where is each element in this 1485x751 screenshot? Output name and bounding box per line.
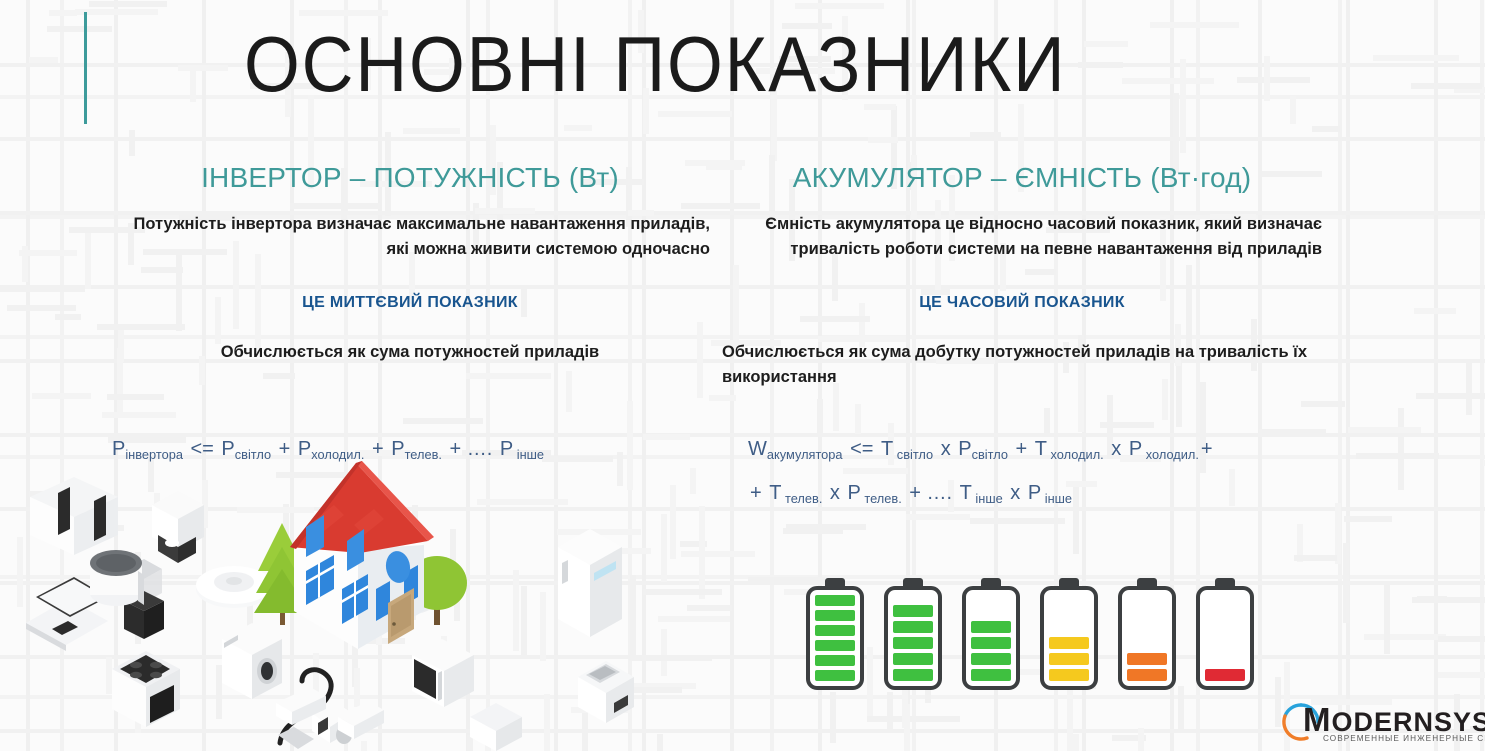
battery-bar <box>815 640 855 651</box>
battery-shell <box>962 586 1020 690</box>
battery-bar <box>1049 653 1089 665</box>
battery-bar <box>815 625 855 636</box>
formula-subscript: інше <box>972 491 1003 506</box>
formula-operator: <= <box>843 438 881 460</box>
battery-bar <box>971 653 1011 665</box>
appliance-washing-machine <box>222 623 282 699</box>
formula-term: P <box>1129 438 1142 460</box>
appliance-toaster <box>578 661 634 723</box>
formula-battery: Wакумулятора <= T світло х Pсвітло + T х… <box>748 430 1215 518</box>
logo-wordmark: MODERNSYS <box>1303 705 1485 737</box>
formula-term: P <box>1028 482 1041 504</box>
battery-bar <box>971 637 1011 649</box>
formula-operator: х <box>1003 482 1028 504</box>
isometric-house <box>254 461 467 649</box>
battery-critical <box>1196 578 1254 690</box>
column-kicker-battery: ЦЕ ЧАСОВИЙ ПОКАЗНИК <box>722 292 1322 314</box>
appliance-water-heater <box>90 550 144 606</box>
battery-shell <box>884 586 942 690</box>
column-heading-battery: АКУМУЛЯТОР – ЄМНІСТЬ (Вт·год) <box>722 160 1322 196</box>
battery-bar <box>815 670 855 681</box>
formula-subscript: телев. <box>781 491 822 506</box>
column-body-inverter: Потужність інвертора визначає максимальн… <box>110 212 710 262</box>
battery-shell <box>1118 586 1176 690</box>
page-title: ОСНОВНІ ПОКАЗНИКИ <box>244 12 1067 116</box>
formula-subscript: холодил. <box>1047 447 1104 462</box>
formula-subscript: інше <box>1041 491 1072 506</box>
appliance-stove <box>112 651 180 727</box>
column-inverter: ІНВЕРТОР – ПОТУЖНІСТЬ (Вт) Потужність ін… <box>110 160 710 365</box>
formula-subscript: холодил. <box>1142 447 1199 462</box>
battery-shell <box>1040 586 1098 690</box>
appliance-oven <box>470 703 522 751</box>
formula-operator: + <box>1008 438 1035 460</box>
logo-wordmark-rest: ODERNSYS <box>1332 707 1485 737</box>
battery-bar <box>893 669 933 681</box>
battery-bar <box>893 653 933 665</box>
battery-shell <box>1196 586 1254 690</box>
formula-line: + T телев. х P телев. + …. T інше х P ін… <box>748 474 1215 518</box>
formula-operator: + <box>748 482 769 504</box>
formula-operator: х <box>933 438 958 460</box>
appliance-coffee-machine <box>152 491 204 563</box>
formula-operator: х <box>822 482 847 504</box>
logo-tagline: СОВРЕМЕННЫЕ ИНЖЕНЕРНЫЕ СИСТЕМЫ <box>1323 734 1485 743</box>
battery-bar <box>971 621 1011 633</box>
battery-bar <box>1127 669 1167 681</box>
brand-logo: MODERNSYS СОВРЕМЕННЫЕ ИНЖЕНЕРНЫЕ СИСТЕМЫ <box>1281 700 1481 746</box>
formula-subscript: світло <box>972 447 1008 462</box>
formula-term: W <box>748 438 767 460</box>
formula-term: P <box>958 438 971 460</box>
battery-bar <box>1049 637 1089 649</box>
formula-operator: х <box>1104 438 1129 460</box>
column-note-inverter: Обчислюється як сума потужностей приладі… <box>110 340 710 365</box>
formula-subscript: світло <box>893 447 933 462</box>
battery-shell <box>806 586 864 690</box>
column-note-battery: Обчислюється як сума добутку потужностей… <box>722 340 1322 390</box>
battery-level-row <box>806 578 1254 690</box>
column-battery: АКУМУЛЯТОР – ЄМНІСТЬ (Вт·год) Ємність ак… <box>722 160 1322 390</box>
home-appliances-illustration <box>0 455 720 751</box>
logo-wordmark-lead: M <box>1303 701 1332 738</box>
formula-term: T <box>881 438 893 460</box>
battery-half <box>1040 578 1098 690</box>
slide-canvas: ОСНОВНІ ПОКАЗНИКИ ІНВЕРТОР – ПОТУЖНІСТЬ … <box>0 0 1485 751</box>
battery-bar <box>1205 669 1245 681</box>
battery-four-sixths <box>962 578 1020 690</box>
battery-bar <box>815 595 855 606</box>
battery-bar <box>1049 669 1089 681</box>
battery-five-sixths <box>884 578 942 690</box>
formula-term: P <box>848 482 861 504</box>
column-kicker-inverter: ЦЕ МИТТЄВИЙ ПОКАЗНИК <box>110 292 710 314</box>
battery-bar <box>815 655 855 666</box>
formula-subscript: телев. <box>861 491 902 506</box>
appliance-refrigerator <box>558 529 622 637</box>
battery-bar <box>893 637 933 649</box>
battery-bar <box>893 621 933 633</box>
formula-subscript: акумулятора <box>767 447 843 462</box>
illustration-svg <box>0 455 720 751</box>
title-accent-bar <box>84 12 87 124</box>
battery-bar <box>1127 653 1167 665</box>
battery-full <box>806 578 864 690</box>
column-body-battery: Ємність акумулятора це відносно часовий … <box>722 212 1322 262</box>
appliance-tv <box>30 477 118 555</box>
battery-bar <box>971 669 1011 681</box>
formula-term: T <box>960 482 972 504</box>
battery-bar <box>815 610 855 621</box>
formula-term: T <box>769 482 781 504</box>
formula-term: T <box>1035 438 1047 460</box>
column-heading-inverter: ІНВЕРТОР – ПОТУЖНІСТЬ (Вт) <box>110 160 710 196</box>
formula-operator: + <box>1199 438 1215 460</box>
battery-bar <box>893 605 933 617</box>
formula-line: Wакумулятора <= T світло х Pсвітло + T х… <box>748 430 1215 474</box>
appliance-microwave <box>412 639 474 707</box>
formula-operator: + …. <box>902 482 960 504</box>
battery-low <box>1118 578 1176 690</box>
